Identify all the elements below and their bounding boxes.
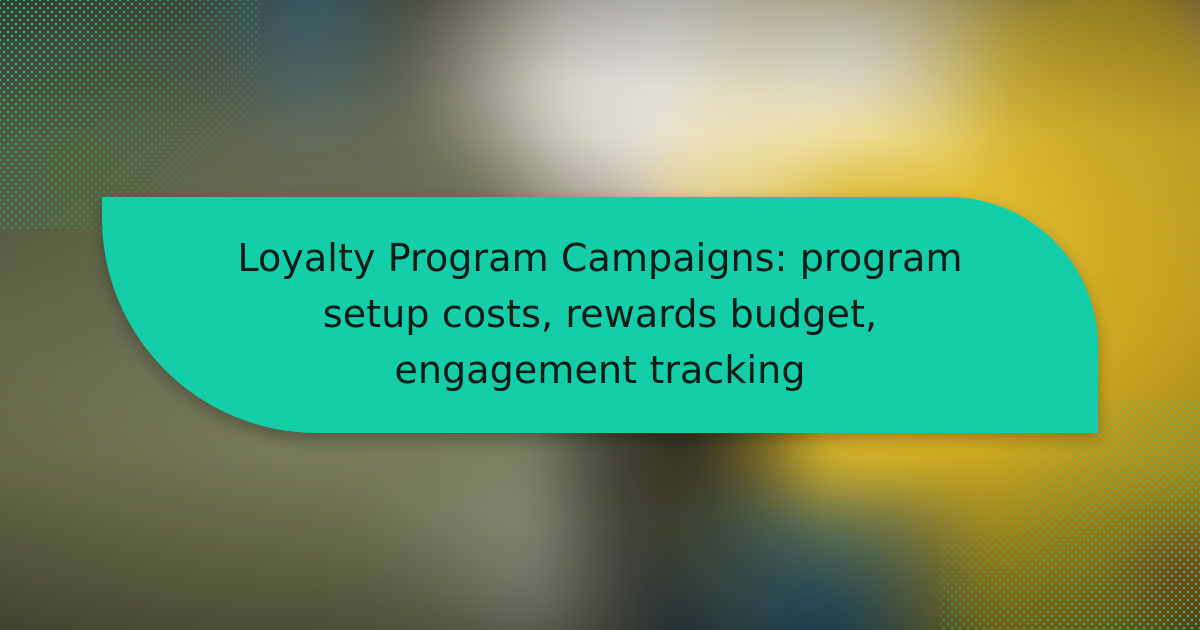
page-title: Loyalty Program Campaigns: program setup… xyxy=(200,231,1000,399)
title-banner: Loyalty Program Campaigns: program setup… xyxy=(102,197,1098,433)
dot-pattern-icon-bottom-right xyxy=(940,400,1200,630)
dot-pattern-icon-top-left xyxy=(0,0,260,230)
social-card: Loyalty Program Campaigns: program setup… xyxy=(0,0,1200,630)
